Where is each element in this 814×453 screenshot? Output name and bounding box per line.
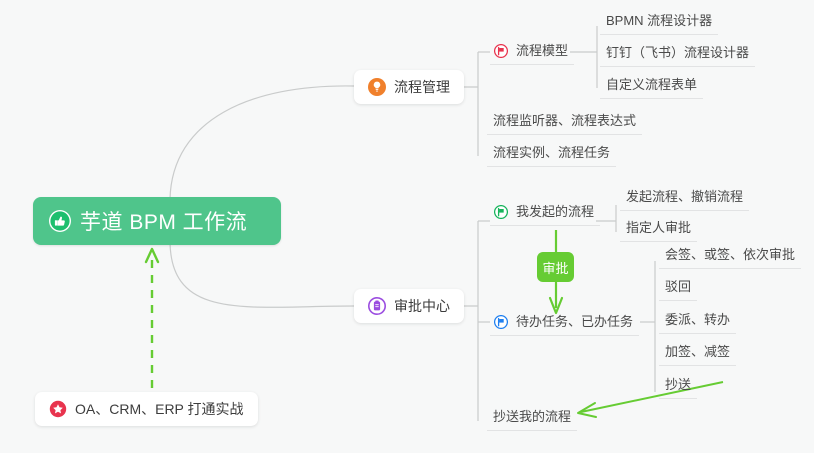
node-todo-done-tasks[interactable]: 待办任务、已办任务 <box>490 313 639 336</box>
leaf-label: 流程实例、流程任务 <box>493 145 610 160</box>
leaf-bpmn-designer[interactable]: BPMN 流程设计器 <box>600 12 718 35</box>
branch-approval-center[interactable]: 审批中心 <box>354 289 464 323</box>
leaf-reject[interactable]: 驳回 <box>659 278 697 301</box>
leaf-label: 抄送 <box>665 377 691 392</box>
leaf-label: 指定人审批 <box>626 220 691 235</box>
branch-process-management-label: 流程管理 <box>394 77 450 97</box>
cc-flow-arrow <box>578 382 723 417</box>
node-cc-my-process-label: 抄送我的流程 <box>493 409 571 424</box>
leaf-start-cancel-process[interactable]: 发起流程、撤销流程 <box>620 188 749 211</box>
leaf-instance-task[interactable]: 流程实例、流程任务 <box>487 144 616 167</box>
branch-approval-center-label: 审批中心 <box>394 296 450 316</box>
leaf-label: 委派、转办 <box>665 312 730 327</box>
leaf-label: BPMN 流程设计器 <box>606 13 712 28</box>
thumbs-up-icon <box>49 210 71 232</box>
mindmap-canvas: 芋道 BPM 工作流 流程管理 审批中心 <box>0 0 814 453</box>
leaf-designated-approver[interactable]: 指定人审批 <box>620 219 697 242</box>
leaf-label: 会签、或签、依次审批 <box>665 247 795 262</box>
footer-node-integration[interactable]: OA、CRM、ERP 打通实战 <box>35 392 258 426</box>
lightbulb-icon <box>368 78 386 96</box>
node-todo-done-tasks-label: 待办任务、已办任务 <box>516 313 633 330</box>
dashed-uplink <box>146 249 158 388</box>
leaf-listener-expression[interactable]: 流程监听器、流程表达式 <box>487 112 642 135</box>
node-my-started-process-label: 我发起的流程 <box>516 203 594 220</box>
node-process-model-label: 流程模型 <box>516 42 568 59</box>
leaf-custom-form[interactable]: 自定义流程表单 <box>600 76 703 99</box>
flag-icon <box>494 205 508 219</box>
leaf-add-remove-sign[interactable]: 加签、减签 <box>659 343 736 366</box>
approval-badge-label: 审批 <box>542 258 568 277</box>
footer-node-label: OA、CRM、ERP 打通实战 <box>75 399 244 419</box>
node-process-model[interactable]: 流程模型 <box>490 42 574 65</box>
star-icon <box>49 400 67 418</box>
leaf-label: 发起流程、撤销流程 <box>626 189 743 204</box>
leaf-delegate-transfer[interactable]: 委派、转办 <box>659 311 736 334</box>
flag-icon <box>494 44 508 58</box>
branch-process-management[interactable]: 流程管理 <box>354 70 464 104</box>
clipboard-icon <box>368 297 386 315</box>
leaf-cc[interactable]: 抄送 <box>659 376 697 399</box>
node-cc-my-process[interactable]: 抄送我的流程 <box>487 408 577 431</box>
root-node[interactable]: 芋道 BPM 工作流 <box>33 197 281 245</box>
leaf-label: 加签、减签 <box>665 344 730 359</box>
root-label: 芋道 BPM 工作流 <box>80 206 247 236</box>
node-my-started-process[interactable]: 我发起的流程 <box>490 203 600 226</box>
leaf-label: 自定义流程表单 <box>606 77 697 92</box>
flag-icon <box>494 315 508 329</box>
leaf-countersign[interactable]: 会签、或签、依次审批 <box>659 246 801 269</box>
leaf-label: 流程监听器、流程表达式 <box>493 113 636 128</box>
approval-badge[interactable]: 审批 <box>537 252 574 282</box>
leaf-dingtalk-designer[interactable]: 钉钉（飞书）流程设计器 <box>600 44 755 67</box>
leaf-label: 驳回 <box>665 279 691 294</box>
leaf-label: 钉钉（飞书）流程设计器 <box>606 45 749 60</box>
